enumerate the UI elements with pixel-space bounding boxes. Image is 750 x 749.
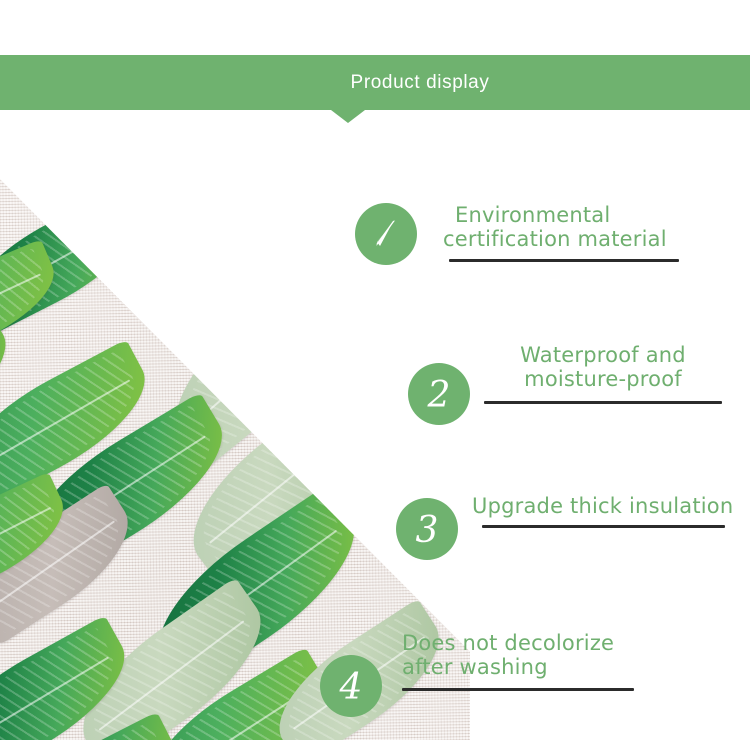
svg-text:3: 3	[416, 510, 439, 551]
numeral-three-icon: 3	[396, 498, 458, 560]
feature-body: Does not decolorize after washing	[402, 655, 634, 691]
svg-text:2: 2	[427, 375, 451, 416]
feature-item-3: 3 Upgrade thick insulation	[396, 498, 733, 560]
feature-underline	[484, 401, 722, 404]
feature-underline	[449, 259, 679, 262]
feature-item-4: 4 Does not decolorize after washing	[320, 655, 634, 717]
feature-label: Environmental certification material	[443, 203, 679, 252]
numeral-two-icon: 2	[408, 363, 470, 425]
numeral-one-icon	[355, 203, 417, 265]
feature-item-1: Environmental certification material	[355, 203, 679, 265]
product-display-page: Product display	[0, 0, 750, 749]
feature-label: Upgrade thick insulation	[472, 494, 733, 518]
feature-underline	[482, 525, 725, 528]
page-title: Product display	[351, 72, 490, 94]
triangle-down-icon	[331, 110, 365, 123]
feature-body: Waterproof and moisture-proof	[484, 363, 722, 404]
numeral-four-icon: 4	[320, 655, 382, 717]
svg-text:4: 4	[339, 667, 363, 708]
feature-body: Environmental certification material	[443, 203, 679, 262]
feature-body: Upgrade thick insulation	[472, 498, 733, 528]
feature-item-2: 2 Waterproof and moisture-proof	[408, 363, 722, 425]
feature-label: Does not decolorize after washing	[402, 631, 634, 680]
feature-label: Waterproof and moisture-proof	[484, 343, 722, 392]
section-header-banner: Product display	[0, 55, 750, 110]
feature-underline	[402, 688, 634, 691]
